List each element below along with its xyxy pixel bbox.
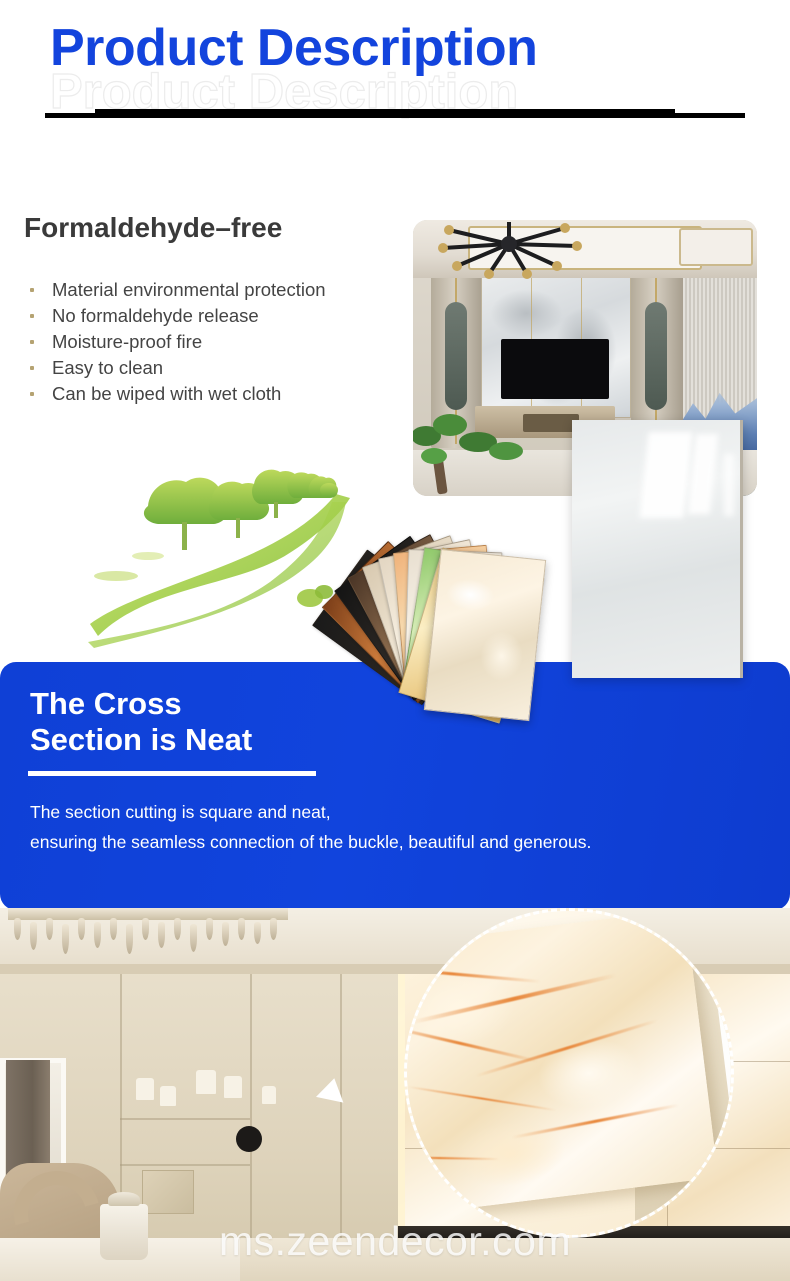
banner-heading-line2: Section is Neat [30, 722, 252, 758]
plant-leaf [489, 442, 523, 460]
banner-heading-line1: The Cross [30, 686, 182, 722]
ceiling-tray-right [679, 228, 753, 266]
crystal-chandelier-icon [8, 908, 288, 964]
site-watermark: ms.zeendecor.com [0, 1218, 790, 1265]
banner-paragraph-line2: ensuring the seamless connection of the … [30, 832, 591, 853]
wall-dark-disc [236, 1126, 262, 1152]
banner-rule [28, 771, 316, 776]
sample-swatch-fan [356, 492, 626, 752]
starburst-chandelier-icon [431, 222, 591, 282]
column-inset-panel [645, 302, 667, 410]
wall-sconce-icon [262, 1086, 276, 1104]
wall-sconce-icon [136, 1078, 154, 1100]
wall-sconce-icon [196, 1070, 216, 1094]
wall-sconce-icon [160, 1086, 176, 1106]
magnifier-circle [404, 908, 734, 1238]
panel-reflection [639, 432, 692, 518]
list-item: Material environmental protection [24, 277, 424, 303]
wall-sconce-icon [224, 1076, 242, 1098]
feature-list: Material environmental protection No for… [24, 277, 424, 407]
wall-panel-line [340, 970, 342, 1260]
header-rule-bottom [45, 113, 745, 118]
formaldehyde-heading: Formaldehyde–free [24, 212, 282, 244]
column-inset-panel [445, 302, 467, 410]
plant-leaf [433, 414, 467, 436]
marble-panel-closeup [404, 909, 718, 1218]
panel-reflection [724, 454, 734, 516]
swatch-front-panel [424, 549, 546, 721]
list-item: No formaldehyde release [24, 303, 424, 329]
plant-leaf [421, 448, 447, 464]
bonsai-plant [413, 408, 535, 494]
product-description-page: Product Description Product Description … [0, 0, 790, 1281]
wall-panel-line [250, 970, 252, 1260]
list-item: Moisture-proof fire [24, 329, 424, 355]
television [501, 339, 609, 399]
banner-paragraph-line1: The section cutting is square and neat, [30, 802, 331, 823]
wall-panel-line [120, 1164, 250, 1166]
panel-reflection [688, 434, 718, 514]
jar-lid [108, 1192, 140, 1206]
list-item: Easy to clean [24, 355, 424, 381]
list-item: Can be wiped with wet cloth [24, 381, 424, 407]
page-header: Product Description Product Description [0, 0, 790, 140]
wall-relief-panel [142, 1170, 194, 1214]
wall-panel-line [120, 1118, 250, 1120]
page-title: Product Description [50, 22, 537, 74]
